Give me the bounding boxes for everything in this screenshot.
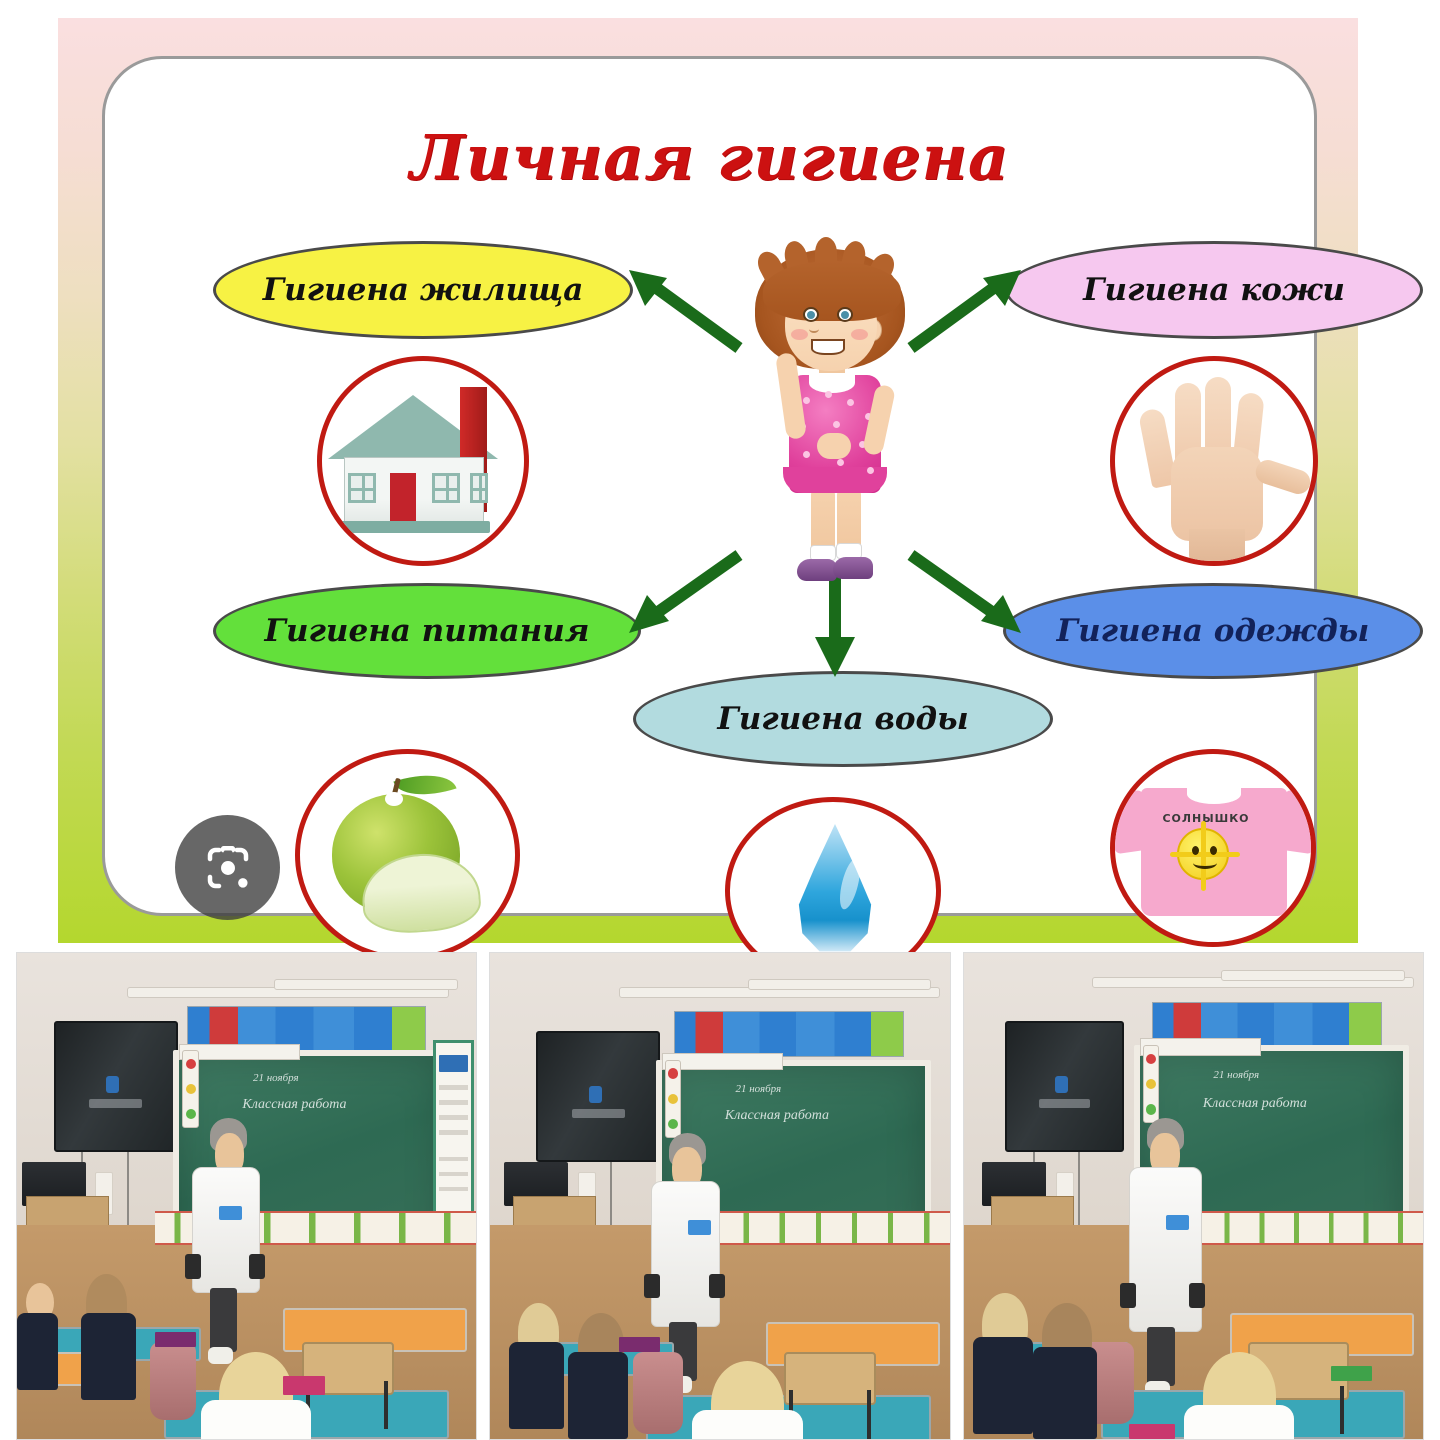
wall-poster xyxy=(433,1040,474,1234)
wall-tv xyxy=(1005,1021,1124,1152)
tv-logo-icon xyxy=(589,1086,602,1103)
pupil-body-2 xyxy=(1033,1347,1097,1439)
ceiling-rail-2 xyxy=(1221,970,1405,981)
decorative-wall-border xyxy=(692,1211,949,1245)
tv-caption xyxy=(89,1099,142,1108)
ceiling-rail-2 xyxy=(274,979,458,990)
teacher-pants xyxy=(210,1288,238,1351)
notebook xyxy=(155,1332,196,1347)
classroom-photo-row: 21 ноября Классная работа xyxy=(0,952,1440,1440)
arrow-to-nutrition xyxy=(625,549,745,639)
branch-label-nutrition[interactable]: Гигиена питания xyxy=(213,583,641,679)
teacher-cuff-right xyxy=(709,1274,725,1298)
branch-label-housing[interactable]: Гигиена жилища xyxy=(213,241,633,339)
branch-label-skin[interactable]: Гигиена кожи xyxy=(1005,241,1423,339)
teacher-shoe xyxy=(208,1347,233,1364)
hand-palm-icon xyxy=(1110,356,1318,566)
teacher-cuff-right xyxy=(1189,1283,1205,1307)
alphabet-strip xyxy=(674,1011,904,1057)
ceiling-rail-2 xyxy=(748,979,932,990)
notebook xyxy=(619,1337,660,1352)
classroom-photo-2[interactable]: 21 ноября Классная работа xyxy=(489,952,950,1440)
pupil-body-3 xyxy=(1184,1405,1294,1440)
poster-panel: Личная гигиена Гигиена жилища Гигиена ко… xyxy=(58,18,1358,943)
poster-card: Личная гигиена Гигиена жилища Гигиена ко… xyxy=(102,56,1317,916)
classroom-photo-3[interactable]: 21 ноября Классная работа xyxy=(963,952,1424,1440)
traffic-light-poster xyxy=(1143,1045,1160,1123)
pupil-body-3 xyxy=(201,1400,311,1440)
branch-label-water[interactable]: Гигиена воды xyxy=(633,671,1053,767)
page-title: Личная гигиена xyxy=(105,121,1314,194)
teacher-cuff-left xyxy=(1120,1283,1136,1307)
board-date: 21 ноября xyxy=(735,1083,781,1095)
board-date: 21 ноября xyxy=(253,1072,299,1084)
tv-caption xyxy=(572,1109,625,1118)
tshirt-icon: СОЛНЫШКО xyxy=(1110,749,1316,947)
green-apple-icon xyxy=(295,749,520,961)
pencil-case xyxy=(283,1376,324,1395)
pupil-body-1 xyxy=(973,1337,1033,1434)
pupil-body-1 xyxy=(509,1342,564,1429)
tv-caption xyxy=(1039,1099,1090,1108)
tv-logo-icon xyxy=(1055,1076,1068,1093)
branch-label-clothing[interactable]: Гигиена одежды xyxy=(1003,583,1423,679)
board-date: 21 ноября xyxy=(1213,1069,1259,1081)
board-title: Классная работа xyxy=(725,1108,829,1124)
wall-tv xyxy=(536,1031,660,1162)
classroom-photo-1[interactable]: 21 ноября Классная работа xyxy=(16,952,477,1440)
pencil-case xyxy=(1129,1424,1175,1439)
lens-camera-icon xyxy=(201,841,255,895)
tv-logo-icon xyxy=(106,1076,119,1093)
teacher-cuff-right xyxy=(249,1254,265,1278)
decorative-wall-border xyxy=(1175,1211,1423,1245)
google-lens-button[interactable] xyxy=(175,815,280,920)
backpack xyxy=(633,1352,684,1435)
pupil-body-1 xyxy=(81,1313,136,1400)
teacher-cuff-left xyxy=(185,1254,201,1278)
traffic-light-poster xyxy=(665,1060,682,1138)
backpack xyxy=(150,1342,196,1420)
tshirt-print-text: СОЛНЫШКО xyxy=(1157,812,1255,825)
pupil-body-3 xyxy=(692,1410,802,1440)
teacher-badge xyxy=(1166,1215,1189,1230)
tv-cable-2 xyxy=(1078,1152,1080,1230)
board-title: Классная работа xyxy=(1203,1096,1307,1112)
wall-tv xyxy=(54,1021,178,1152)
teacher-badge xyxy=(688,1220,711,1235)
cartoon-girl-illustration xyxy=(733,245,933,590)
house-icon xyxy=(317,356,529,566)
teacher-cuff-left xyxy=(644,1274,660,1298)
chair-right xyxy=(784,1352,876,1405)
teacher-pants xyxy=(1147,1327,1175,1385)
tv-cable-2 xyxy=(127,1152,129,1230)
pupil-body-2 xyxy=(17,1313,58,1391)
traffic-light-poster xyxy=(182,1050,199,1128)
board-title: Классная работа xyxy=(242,1097,346,1113)
teacher-coat xyxy=(651,1181,720,1327)
pupil-body-2 xyxy=(568,1352,628,1439)
arrow-to-housing xyxy=(625,264,745,354)
notebook xyxy=(1331,1366,1372,1381)
teacher-badge xyxy=(219,1206,242,1221)
